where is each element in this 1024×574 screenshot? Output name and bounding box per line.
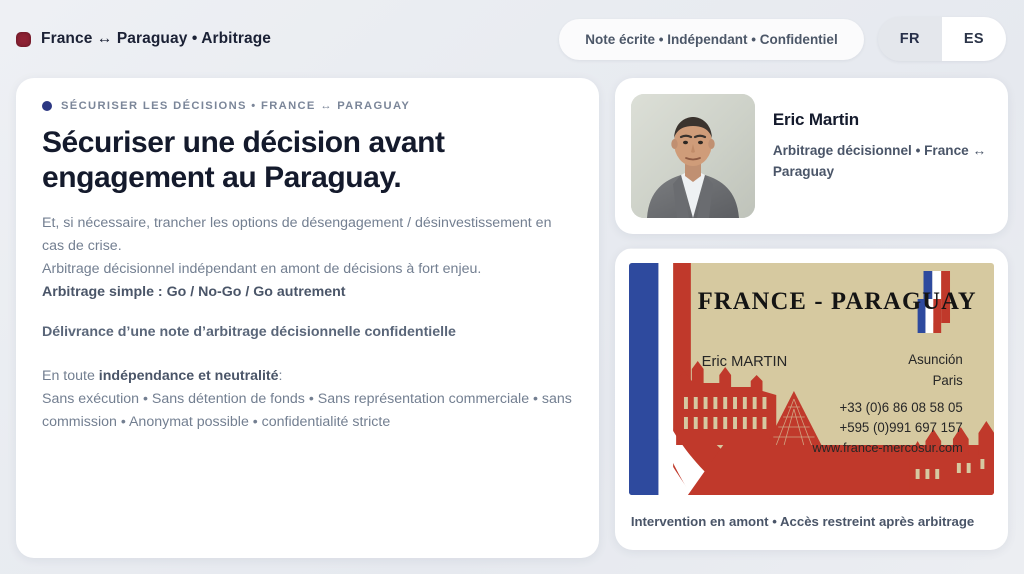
person-meta: Eric Martin Arbitrage décisionnel • Fran… [773,94,992,182]
brand-dot-icon [16,32,31,47]
avatar [631,94,755,218]
independence-block: En toute indépendance et neutralité: San… [42,365,573,434]
business-card-person: Eric MARTIN [701,354,787,370]
eyebrow-dot-icon [42,101,52,111]
constraints-line: Sans exécution • Sans détention de fonds… [42,388,573,434]
independence-line: En toute indépendance et neutralité: [42,365,573,388]
business-card-phone-py: +595 (0)991 697 157 [839,420,962,435]
language-option-es[interactable]: ES [942,17,1006,61]
business-card-caption: Intervention en amont • Accès restreint … [615,495,1008,550]
person-role: Arbitrage décisionnel • France ↔ Paragua… [773,141,992,182]
business-card-frame: FRANCE - PARAGUAY Eric MARTIN Asunción P… [615,248,1008,495]
spacer [42,344,573,365]
arbitrage-label: Arbitrage simple : [42,284,167,300]
intro-copy: Et, si nécessaire, trancher les options … [42,212,573,304]
note-status-pill: Note écrite • Indépendant • Confidentiel [559,19,863,60]
main-panel: SÉCURISER LES DÉCISIONS • FRANCE ↔ PARAG… [16,78,599,558]
intro-paragraph-1: Et, si nécessaire, trancher les options … [42,212,573,258]
language-option-fr[interactable]: FR [878,17,942,61]
spacer [42,304,573,321]
business-card-city-2: Paris [932,373,962,388]
portrait-photo [631,94,755,218]
delivery-line: Délivrance d’une note d’arbitrage décisi… [42,321,573,344]
top-bar-controls: Note écrite • Indépendant • Confidentiel… [559,17,1006,61]
business-card-image[interactable]: FRANCE - PARAGUAY Eric MARTIN Asunción P… [629,263,994,495]
independence-prefix: En toute [42,368,99,384]
content-stage: SÉCURISER LES DÉCISIONS • FRANCE ↔ PARAG… [0,78,1024,574]
business-card-city-1: Asunción [908,352,962,367]
brand[interactable]: France ↔ Paraguay • Arbitrage [16,30,271,48]
language-toggle[interactable]: FR ES [878,17,1006,61]
business-card-phone-fr: +33 (0)6 86 08 58 05 [839,400,962,415]
arbitrage-line: Arbitrage simple : Go / No-Go / Go autre… [42,281,573,304]
brand-label: France ↔ Paraguay • Arbitrage [41,30,271,48]
page-title: Sécuriser une décision avant engagement … [42,125,512,195]
independence-suffix: : [279,368,283,384]
person-card: Eric Martin Arbitrage décisionnel • Fran… [615,78,1008,234]
business-card-website: www.france-mercosur.com [811,440,962,455]
top-bar: France ↔ Paraguay • Arbitrage Note écrit… [0,0,1024,78]
eyebrow-label: SÉCURISER LES DÉCISIONS • FRANCE ↔ PARAG… [61,100,410,112]
arbitrage-value: Go / No-Go / Go autrement [167,284,346,300]
business-card-panel: FRANCE - PARAGUAY Eric MARTIN Asunción P… [615,248,1008,550]
independence-strong: indépendance et neutralité [99,368,279,384]
person-name: Eric Martin [773,110,992,130]
intro-paragraph-2: Arbitrage décisionnel indépendant en amo… [42,258,573,281]
business-card-title: FRANCE - PARAGUAY [698,288,977,315]
sidebar: Eric Martin Arbitrage décisionnel • Fran… [615,78,1008,550]
eyebrow: SÉCURISER LES DÉCISIONS • FRANCE ↔ PARAG… [42,100,573,112]
